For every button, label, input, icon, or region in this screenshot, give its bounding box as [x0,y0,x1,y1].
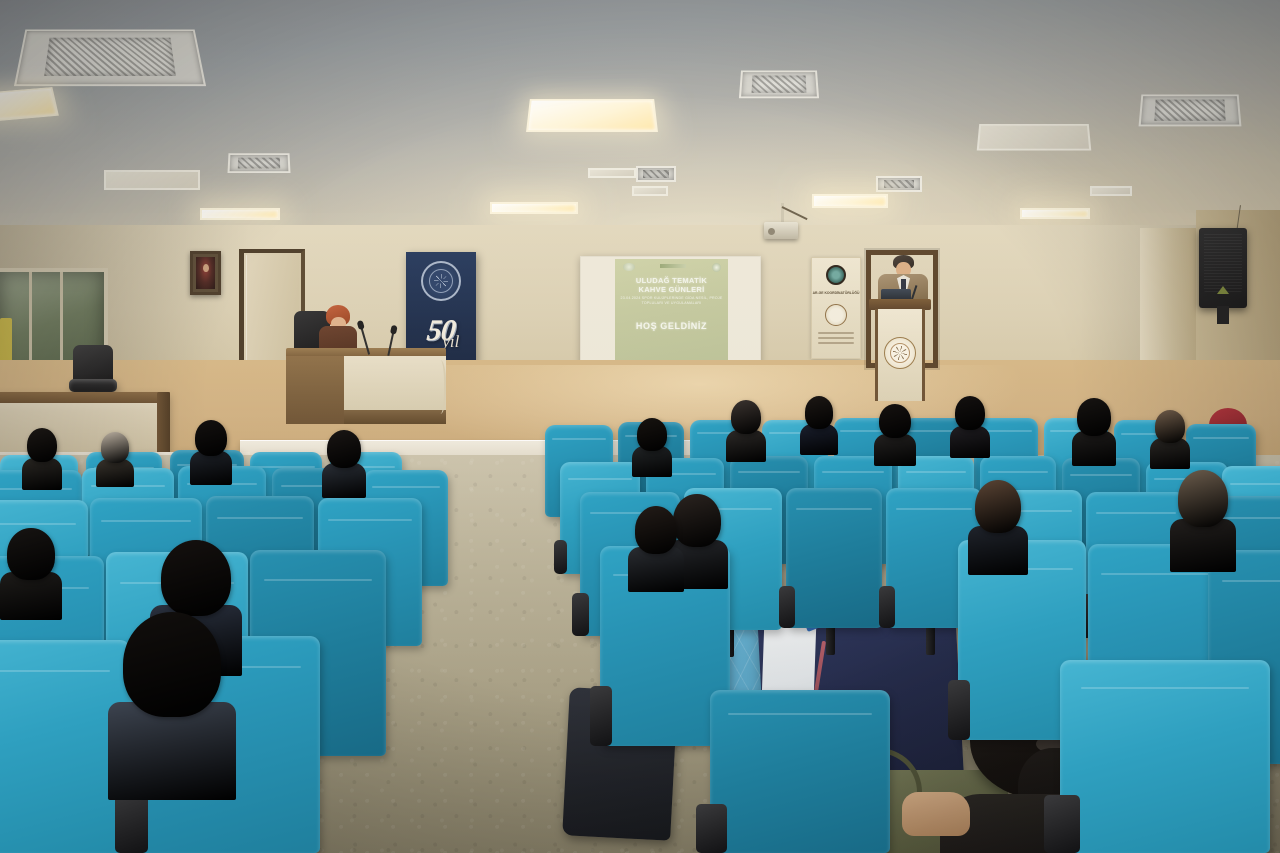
floor-cable [432,360,446,414]
ceiling-light-panel [1020,208,1090,219]
ceiling-vent-icon [227,153,290,173]
attendee-center-5 [950,396,990,460]
seat-leg [926,624,935,655]
attendee-head [123,612,220,717]
attendee-head [955,396,985,430]
wall-plaque: AR-GE KOORDİNATÖRLÜĞÜ [811,257,861,359]
window-curtain-strip [0,318,12,362]
seat-armrest [572,593,589,636]
ceiling-vent-icon [876,176,922,192]
attendee-head [195,420,227,456]
plaque-gold-seal-icon [825,304,847,326]
attendee-center-3 [800,396,838,457]
plaque-title: AR-GE KOORDİNATÖRLÜĞÜ [812,291,860,295]
ceiling-light-panel [812,194,888,208]
university-seal-icon [421,261,461,301]
seat-armrest [879,586,895,628]
seat-leg [826,624,835,655]
attendee-center-2 [726,400,766,464]
presentation-slide: ULUDAĞ TEMATİK KAHVE GÜNLERİ 23.04.2024 … [615,259,728,363]
seat-armrest [696,804,727,853]
conference-hall-photo: 50 yıl ULUDAĞ ÜNİVERSİTESİ ULUDAĞ TEMATİ… [0,0,1280,853]
attendee-head [635,506,678,554]
attendee-head [7,528,54,580]
attendee-center-6 [1072,398,1116,468]
speaker-logo-icon [1217,286,1229,294]
attendee-hand [902,792,970,836]
attendee-shoulders [22,458,62,490]
attendee-head [1155,410,1185,443]
attendee-head [161,540,231,616]
ceiling-light-panel [104,170,200,190]
plaque-text-lines [818,332,854,347]
slide-welcome-text: HOŞ GELDİNİZ [615,321,728,331]
attendee-mid-3 [1170,470,1236,576]
ceiling-light-panel [977,124,1092,151]
slide-title-line1: ULUDAĞ TEMATİK [615,276,728,285]
attendee-head [101,432,130,463]
ceiling-light-panel [490,202,578,214]
projector-lens-icon [768,228,775,235]
attendee-mid-4 [628,506,684,596]
projection-screen: ULUDAĞ TEMATİK KAHVE GÜNLERİ 23.04.2024 … [580,256,761,364]
attendee-head [975,480,1021,533]
seat-armrest [948,680,970,740]
seat-armrest [779,586,795,628]
auditorium-seat[interactable] [786,488,882,628]
ceiling-vent-icon [636,166,676,182]
attendee-head [1178,470,1228,527]
auditorium-seat[interactable] [710,690,890,853]
ceiling-light-panel [200,208,280,220]
attendee-head [731,400,761,434]
lectern [869,299,931,401]
attendee-center-1 [632,418,672,479]
ceiling-vent-icon [739,71,819,99]
seat-armrest [590,686,612,746]
speaker-bracket [1217,306,1229,324]
attendee-shoulders [190,451,232,485]
attendee-mid-2 [968,480,1028,579]
attendee-back-left-4 [322,430,366,500]
ceiling-vent-icon [14,29,206,86]
auditorium-seat[interactable] [1060,660,1270,853]
attendee-head [27,428,57,462]
seat-armrest [554,540,568,574]
attendee-center-7 [1150,410,1190,471]
slide-subtitle: 23.04.2024 SPOR KULÜPLERİNDE GİDA NESİL,… [615,296,728,306]
attendee-head [327,430,360,468]
slide-logo-left-icon [623,263,635,271]
attendee-center-4 [874,404,916,468]
attendee-row3-left [108,612,236,807]
ceiling-light-panel [588,168,636,178]
attendee-head [1077,398,1110,436]
attendee-shoulders [628,547,684,592]
attendee-shoulders [726,430,766,462]
attendee-shoulders [950,426,990,458]
lectern-emblem-icon [884,337,916,369]
attendee-head [637,418,667,451]
attendee-back-left-3 [190,420,232,487]
slide-logo-center-icon [660,264,686,268]
attendee-shoulders [874,434,916,466]
wall-speaker [1199,228,1247,308]
attendee-back-left-2 [96,432,134,490]
ceiling-light-panel [526,99,658,132]
slide-title-line2: KAHVE GÜNLERİ [615,285,728,294]
ceiling-vent-icon [1139,95,1242,127]
attendee-row2-left-1 [0,528,62,624]
attendee-head [879,404,911,438]
framed-portrait [190,251,221,295]
attendee-back-left-1 [22,428,62,492]
attendee-shoulders [968,526,1028,576]
head-table [286,348,446,428]
ceiling-light-panel [1090,186,1132,196]
slide-logo-right-icon [712,263,721,272]
ceiling-light-panel [632,186,668,196]
attendee-head [805,396,834,429]
plaque-green-seal-icon [826,265,846,285]
seat-armrest [1044,795,1080,853]
